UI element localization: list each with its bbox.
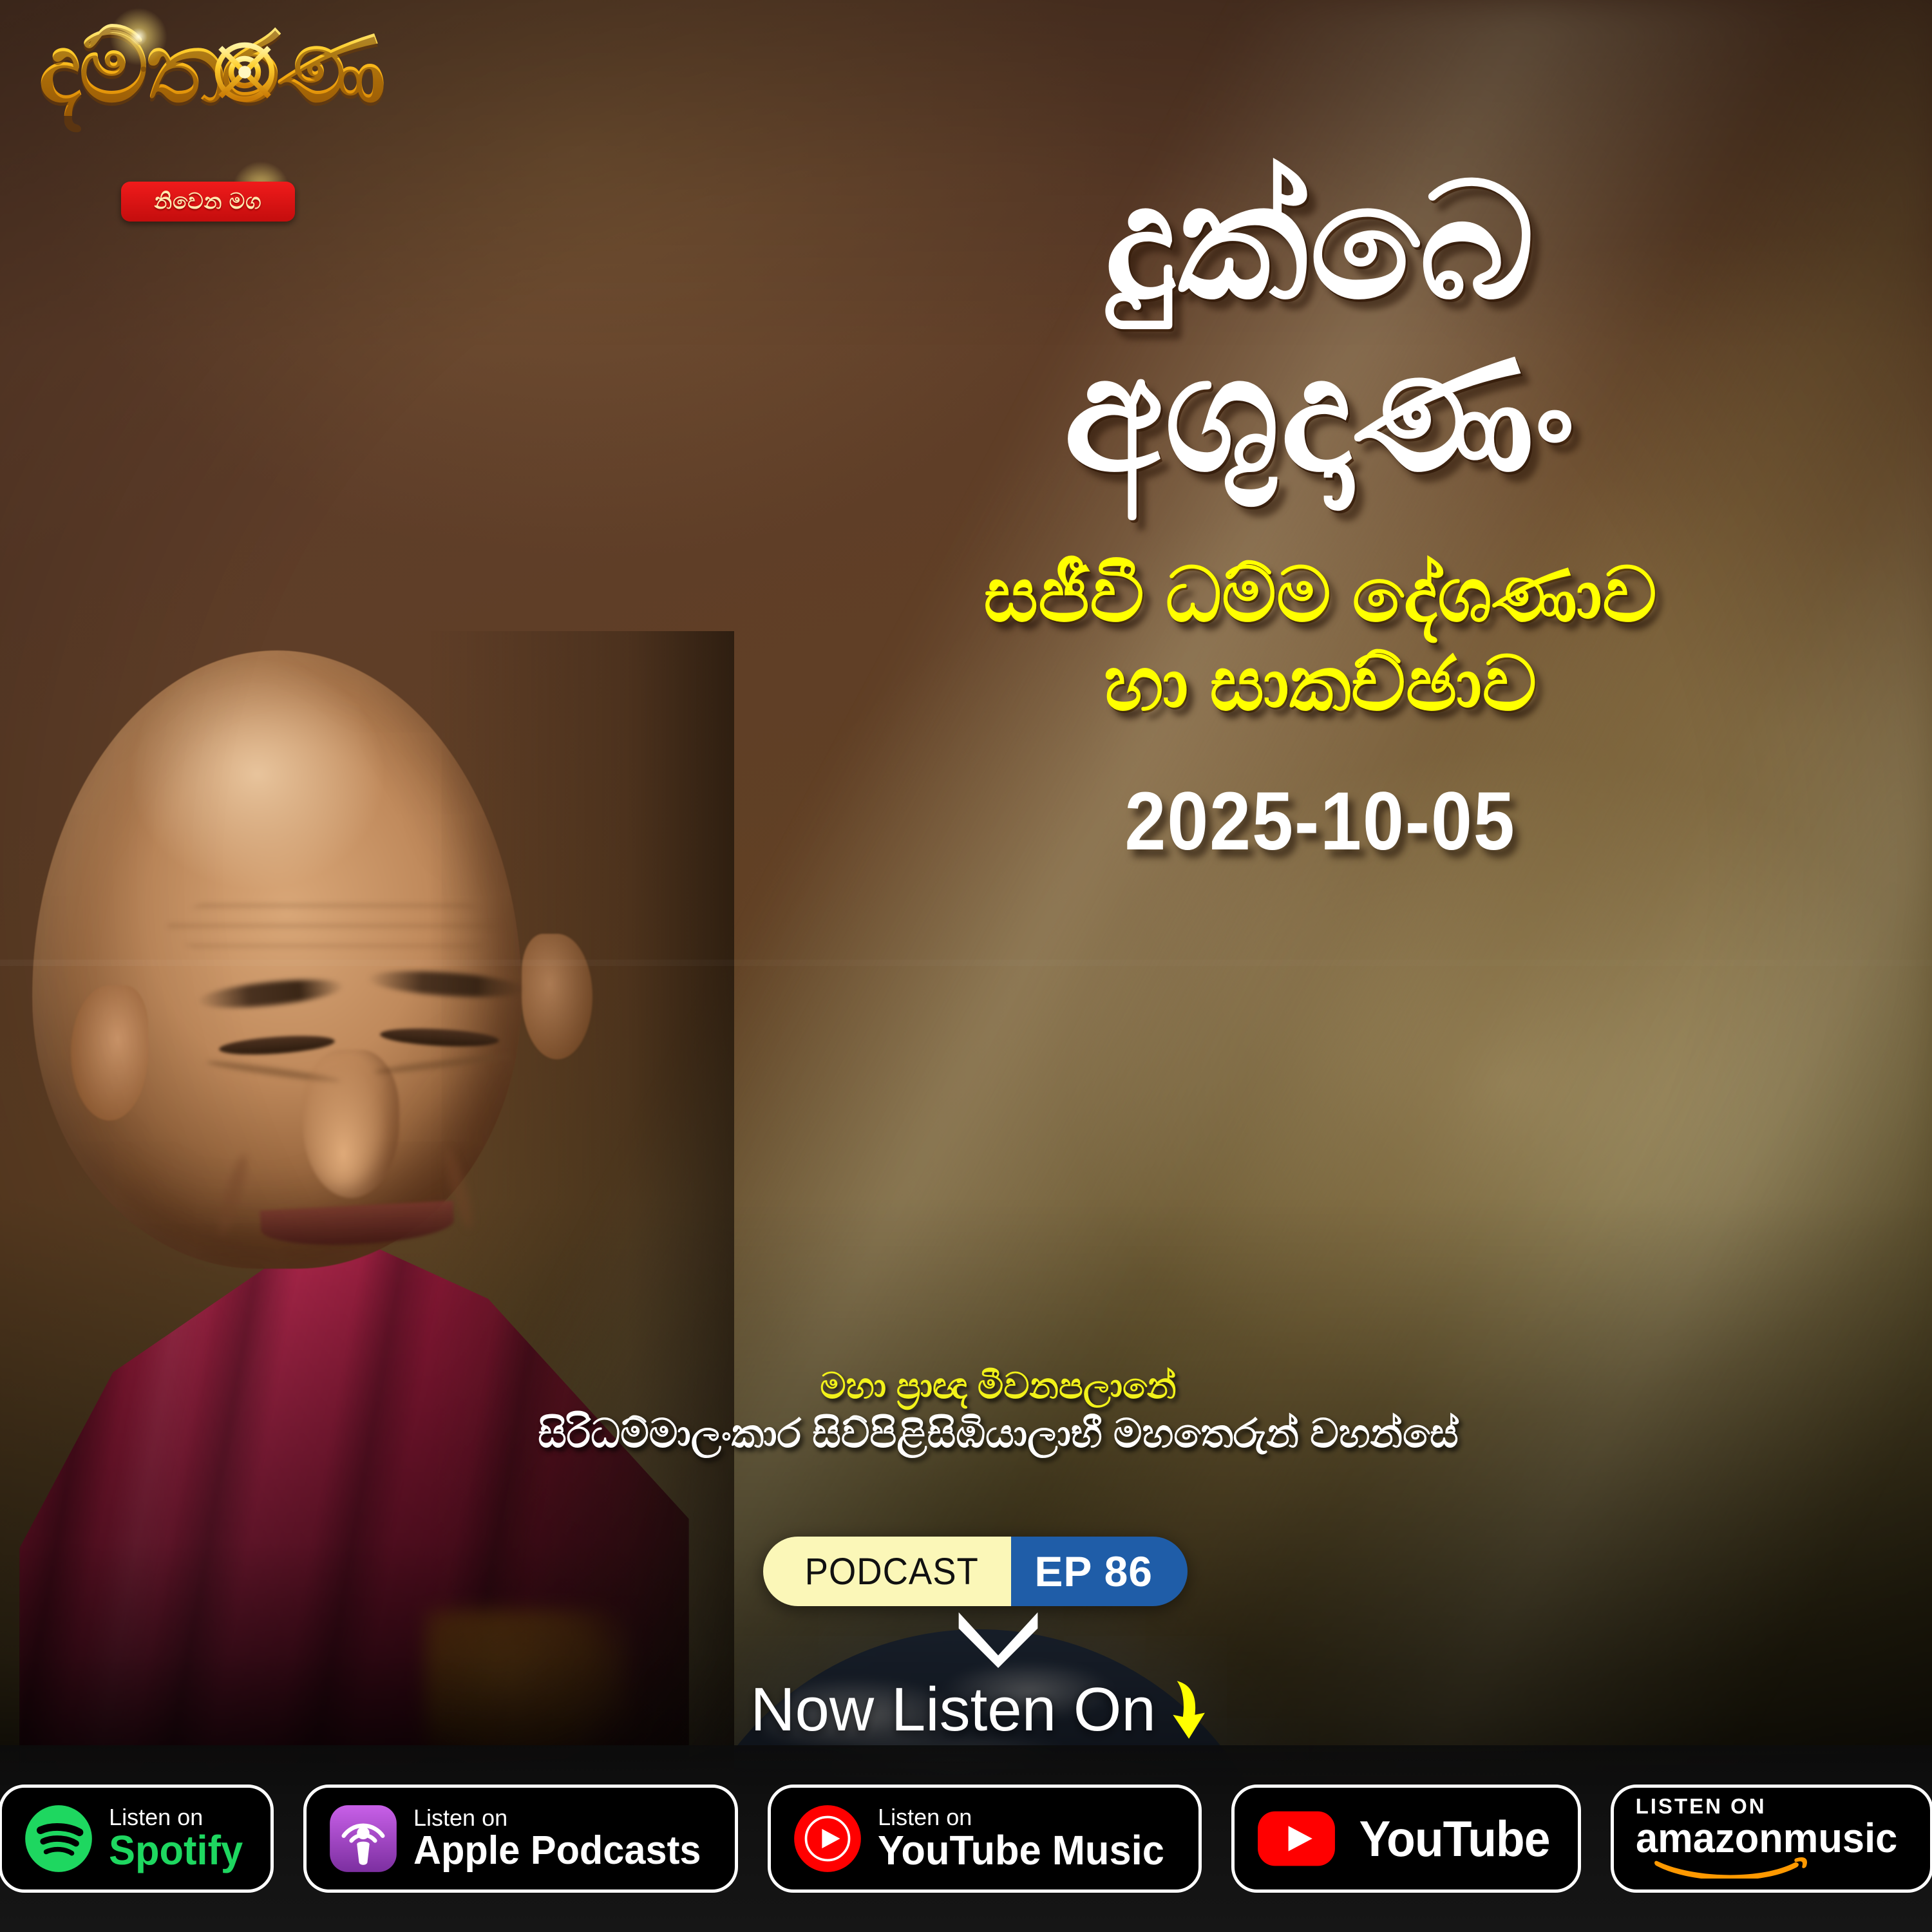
brand-logo-tagline-text: නිවෙන මග — [154, 189, 261, 214]
title-line-2: අශුදාණං — [760, 334, 1880, 495]
dharma-wheel-icon — [200, 27, 290, 117]
headline-block: දුක්බෙ අශුදාණං සජීවී ධම්ම දේශණාව හා සාකච… — [760, 161, 1880, 869]
episode-date: 2025-10-05 — [816, 774, 1824, 869]
podcast-poster: දම්තරණ — [0, 0, 1932, 1932]
subtitle-line-1: සජීවී ධම්ම දේශණාව — [983, 553, 1657, 638]
brand-logo[interactable]: දම්තරණ — [39, 13, 386, 225]
listen-cta: Now Listen On — [670, 1674, 1288, 1745]
apple-podcasts-badge-big-text: Apple Podcasts — [413, 1830, 701, 1871]
brand-logo-tagline-badge: නිවෙන මග — [121, 182, 295, 222]
spotify-badge-small-text: Listen on — [109, 1806, 249, 1830]
subtitle-line-2: හා සාකච්ඡාව — [760, 641, 1880, 726]
spotify-badge-big-text: Spotify — [109, 1830, 243, 1871]
youtube-music-badge-big-text: YouTube Music — [878, 1830, 1164, 1871]
listen-on-youtube-music-badge[interactable]: Listen on YouTube Music — [768, 1785, 1201, 1893]
podcast-label-pill: PODCAST — [763, 1537, 1011, 1606]
episode-badge[interactable]: PODCAST EP 86 — [763, 1537, 1188, 1606]
youtube-badge[interactable]: YouTube — [1231, 1785, 1581, 1893]
episode-number-text: EP 86 — [1034, 1547, 1153, 1596]
youtube-music-badge-small-text: Listen on — [878, 1806, 1176, 1830]
platform-badge-strip: Listen on Spotify — [0, 1745, 1932, 1932]
listen-cta-text: Now Listen On — [750, 1674, 1156, 1745]
apple-podcasts-icon — [328, 1804, 398, 1873]
youtube-badge-text: YouTube — [1359, 1810, 1549, 1868]
speaker-honorific: මහා ප්‍රාඥ මීවනපලානේ — [451, 1365, 1546, 1406]
podcast-label-text: PODCAST — [805, 1550, 979, 1593]
listen-on-amazon-music-badge[interactable]: LISTEN ON amazonmusic — [1611, 1785, 1932, 1893]
speaker-name: සිරිධම්මාලංකාර සිව්පිළිසිඹියාලාභී මහතෙරු… — [451, 1410, 1546, 1458]
speaker-credit: මහා ප්‍රාඥ මීවනපලානේ සිරිධම්මාලංකාර සිව්… — [451, 1365, 1546, 1459]
spotify-icon — [24, 1804, 93, 1873]
subtitle-block: සජීවී ධම්ම දේශණාව හා සාකච්ඡාව — [760, 553, 1880, 726]
amazon-music-badge-big-text: amazonmusic — [1636, 1817, 1897, 1859]
listen-on-spotify-badge[interactable]: Listen on Spotify — [0, 1785, 274, 1893]
youtube-icon — [1256, 1810, 1336, 1868]
down-arrow-icon — [1166, 1679, 1207, 1741]
apple-podcasts-badge-small-text: Listen on — [413, 1806, 713, 1830]
episode-number-pill: EP 86 — [1011, 1537, 1188, 1606]
title-line-1: දුක්බෙ — [760, 161, 1880, 322]
chevron-down-icon — [953, 1609, 1043, 1668]
amazon-music-badge-small-text: LISTEN ON — [1636, 1795, 1908, 1817]
listen-on-apple-podcasts-badge[interactable]: Listen on Apple Podcasts — [303, 1785, 738, 1893]
youtube-music-icon — [793, 1804, 862, 1873]
